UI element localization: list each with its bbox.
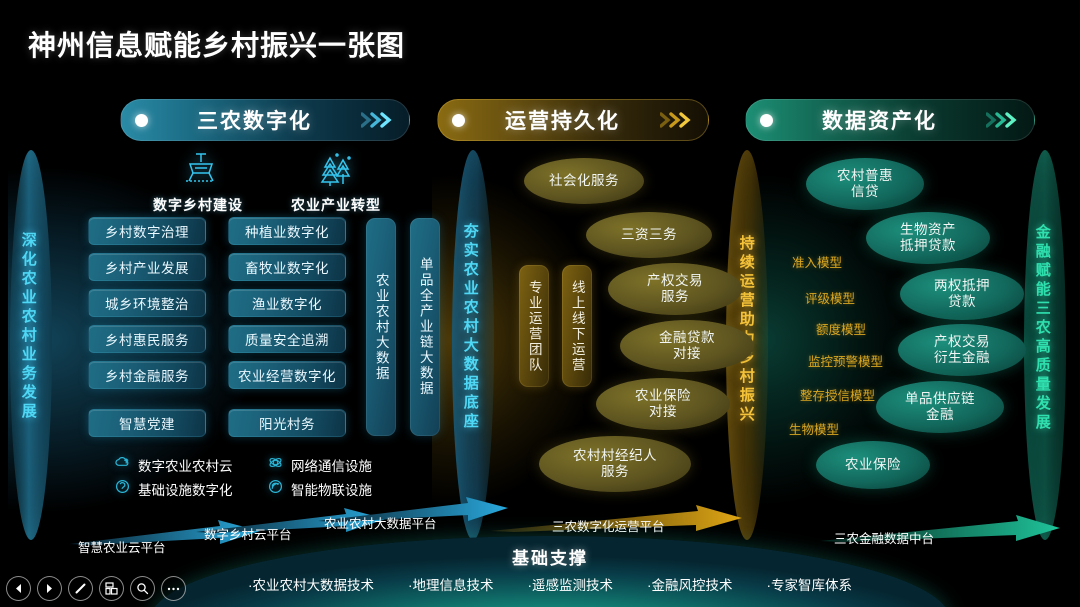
cloud-up-icon: [115, 455, 130, 475]
mini-item-network-comm[interactable]: 网络通信设施: [268, 455, 372, 475]
forest-icon: [280, 150, 392, 193]
chip-fishery-digital[interactable]: 渔业数字化: [228, 289, 346, 317]
base-support-title: 基础支撑: [150, 544, 950, 569]
node-two-rights-mortgage-loan[interactable]: 两权抵押 贷款: [900, 268, 1024, 320]
chevron-right-icon: [361, 112, 395, 128]
base-support-band: 基础支撑 ·农业农村大数据技术 ·地理信息技术 ·遥感监测技术 ·金融风控技术 …: [150, 536, 950, 607]
chevron-right-icon: [660, 112, 694, 128]
chevron-right-icon: [986, 112, 1020, 128]
node-three-assets-three-affairs[interactable]: 三资三务: [586, 212, 712, 258]
pill-title-right: 数据资产化: [773, 105, 986, 135]
chip-quality-traceability[interactable]: 质量安全追溯: [228, 325, 346, 353]
node-rural-inclusive-credit[interactable]: 农村普惠 信贷: [806, 158, 924, 210]
mini-item-digital-agri-cloud[interactable]: 数字农业农村云: [115, 455, 233, 475]
pen-button[interactable]: [68, 576, 93, 601]
side-label-finance-empower: 金融赋能三农高质量发展: [1034, 222, 1050, 434]
model-tag-consolidated-credit: 整存授信模型: [800, 385, 875, 404]
next-button[interactable]: [37, 576, 62, 601]
chip-rural-financial-services[interactable]: 乡村金融服务: [88, 361, 206, 389]
vbar-professional-operation-team[interactable]: 专业运营团队: [519, 265, 549, 387]
chip-smart-party-building[interactable]: 智慧党建: [88, 409, 206, 437]
topic-head-agri-transform: 农业产业转型: [280, 150, 392, 215]
mini-label: 智能物联设施: [291, 479, 372, 499]
chip-urban-rural-environment[interactable]: 城乡环境整治: [88, 289, 206, 317]
vbar-online-offline-operation[interactable]: 线上线下运营: [562, 265, 592, 387]
triangle-left-icon: [13, 583, 24, 594]
page-title: 神州信息赋能乡村振兴一张图: [28, 24, 405, 64]
header-pill-data-asset[interactable]: 数据资产化: [745, 99, 1035, 141]
mini-label: 网络通信设施: [291, 455, 372, 475]
chip-rural-industry-development[interactable]: 乡村产业发展: [88, 253, 206, 281]
model-tag-access: 准入模型: [792, 252, 842, 271]
header-pill-sannong-digital[interactable]: 三农数字化: [120, 99, 410, 141]
irrigation-icon: [142, 150, 254, 193]
model-tag-limit: 额度模型: [816, 319, 866, 338]
side-label-big-data-foundation: 夯实农业农村大数据底座: [462, 222, 478, 432]
mini-item-infra-digital[interactable]: 基础设施数字化: [115, 479, 233, 499]
pill-dot-icon: [135, 114, 148, 127]
topic-label-agri-transform: 农业产业转型: [280, 195, 392, 215]
triangle-right-icon: [44, 583, 55, 594]
topic-label-digital-village: 数字乡村建设: [142, 195, 254, 215]
layout-icon: [105, 582, 118, 595]
base-support-items: ·农业农村大数据技术 ·地理信息技术 ·遥感监测技术 ·金融风控技术 ·专家智库…: [150, 574, 950, 594]
mini-label: 数字农业农村云: [138, 455, 233, 475]
mini-label: 基础设施数字化: [138, 479, 233, 499]
topic-head-digital-village: 数字乡村建设: [142, 150, 254, 215]
base-item-expert-think-tank: ·专家智库体系: [767, 574, 853, 594]
arrow-label-agri-bigdata-platform: 农业农村大数据平台: [324, 513, 437, 532]
previous-button[interactable]: [6, 576, 31, 601]
node-agri-insurance[interactable]: 农业保险: [816, 441, 930, 489]
network-node-icon: [268, 455, 283, 475]
search-button[interactable]: [130, 576, 155, 601]
chip-rural-digital-governance[interactable]: 乡村数字治理: [88, 217, 206, 245]
magnifier-icon: [136, 582, 149, 595]
node-agri-insurance-docking[interactable]: 农业保险 对接: [596, 378, 730, 430]
base-item-remote-sensing-tech: ·遥感监测技术: [528, 574, 614, 594]
arrow-label-sannong-operation: 三农数字化运营平台: [552, 516, 665, 535]
chip-planting-digital[interactable]: 种植业数字化: [228, 217, 346, 245]
model-tag-monitoring-alert: 监控预警模型: [808, 351, 883, 370]
model-tag-biological: 生物模型: [789, 419, 839, 438]
chip-agri-operation-digital[interactable]: 农业经营数字化: [228, 361, 346, 389]
iot-signal-icon: [268, 479, 283, 499]
node-property-exchange-derivative-finance[interactable]: 产权交易 衍生金融: [898, 324, 1026, 376]
pen-icon: [74, 582, 87, 595]
pill-dot-icon: [760, 114, 773, 127]
layout-button[interactable]: [99, 576, 124, 601]
base-item-bigdata-tech: ·农业农村大数据技术: [248, 574, 374, 594]
infra-circle-icon: [115, 479, 130, 499]
vbar-single-product-chain-bigdata[interactable]: 单品全产业链大数据: [410, 218, 440, 436]
header-pill-operation[interactable]: 运营持久化: [437, 99, 709, 141]
side-label-deepen-agri-business: 深化农业农村业务发展: [20, 218, 36, 436]
chip-sunshine-village-affairs[interactable]: 阳光村务: [228, 409, 346, 437]
chip-livestock-digital[interactable]: 畜牧业数字化: [228, 253, 346, 281]
node-single-product-supplychain-finance[interactable]: 单品供应链 金融: [876, 381, 1004, 433]
node-bioasset-mortgage-loan[interactable]: 生物资产 抵押贷款: [866, 212, 990, 264]
vbar-agri-rural-bigdata[interactable]: 农业农村大数据: [366, 218, 396, 436]
chip-rural-welfare-services[interactable]: 乡村惠民服务: [88, 325, 206, 353]
node-socialized-service[interactable]: 社会化服务: [524, 158, 644, 204]
arrow-label-digital-village-cloud: 数字乡村云平台: [204, 524, 292, 543]
model-tag-rating: 评级模型: [805, 288, 855, 307]
ellipsis-icon: [167, 586, 180, 592]
more-button[interactable]: [161, 576, 186, 601]
player-toolbar: [6, 576, 186, 601]
pill-title-middle: 运营持久化: [465, 105, 660, 135]
base-item-risk-control-tech: ·金融风控技术: [647, 574, 733, 594]
node-rural-broker-service[interactable]: 农村村经纪人 服务: [539, 436, 691, 492]
mini-item-iot-facility[interactable]: 智能物联设施: [268, 479, 372, 499]
node-property-exchange-service[interactable]: 产权交易 服务: [608, 263, 742, 315]
pill-dot-icon: [452, 114, 465, 127]
base-item-gis-tech: ·地理信息技术: [408, 574, 494, 594]
pill-title-left: 三农数字化: [148, 105, 361, 135]
node-financial-loan-docking[interactable]: 金融贷款 对接: [620, 320, 754, 372]
infographic-canvas: 神州信息赋能乡村振兴一张图 深化农业农村业务发展 夯实农业农村大数据底座 持续运…: [0, 0, 1080, 607]
